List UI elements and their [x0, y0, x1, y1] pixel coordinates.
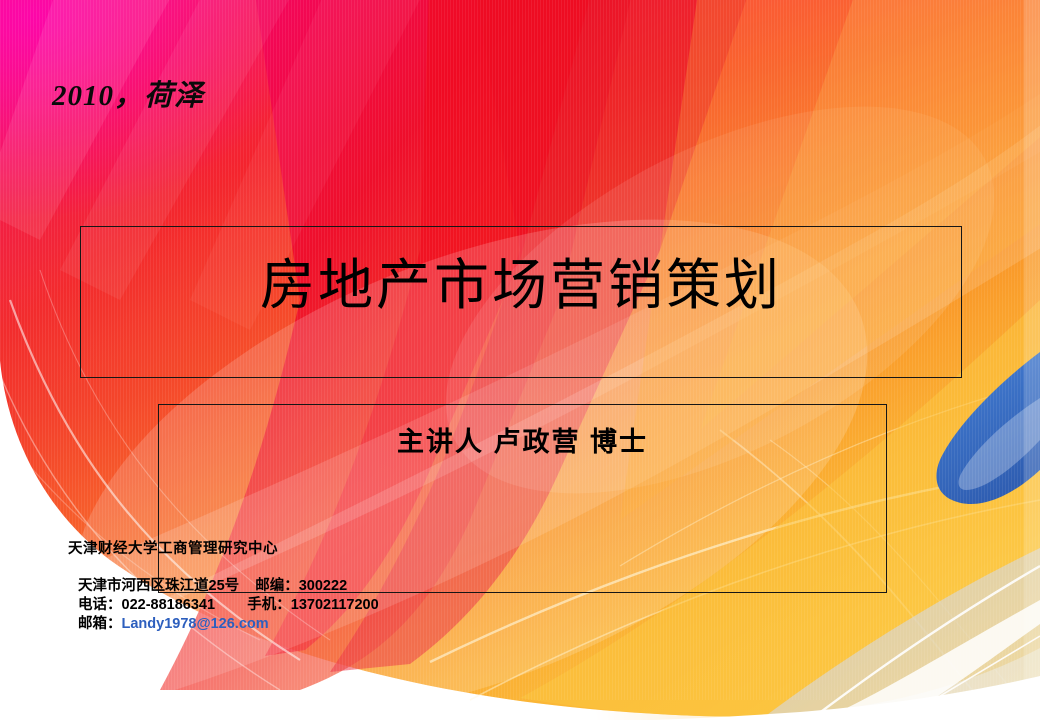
presentation-slide: 2010，荷泽 房地产市场营销策划 主讲人 卢政营 博士 天津财经大学工商管理研… — [0, 0, 1040, 720]
event-location-label: 2010，荷泽 — [52, 72, 204, 114]
presenter-subtitle: 主讲人 卢政营 博士 — [158, 404, 887, 474]
contact-email-line: 邮箱：Landy1978@126.com — [78, 615, 379, 634]
main-title: 房地产市场营销策划 — [80, 226, 962, 378]
contact-block: 天津市河西区珠江道25号 邮编：300222 电话：022-88186341 手… — [78, 577, 379, 634]
contact-address-line: 天津市河西区珠江道25号 邮编：300222 — [78, 577, 379, 596]
contact-email-label: 邮箱： — [78, 616, 122, 632]
contact-phone-line: 电话：022-88186341 手机：13702117200 — [78, 596, 379, 615]
contact-email-value[interactable]: Landy1978@126.com — [122, 616, 269, 632]
organization-label: 天津财经大学工商管理研究中心 — [68, 537, 278, 558]
